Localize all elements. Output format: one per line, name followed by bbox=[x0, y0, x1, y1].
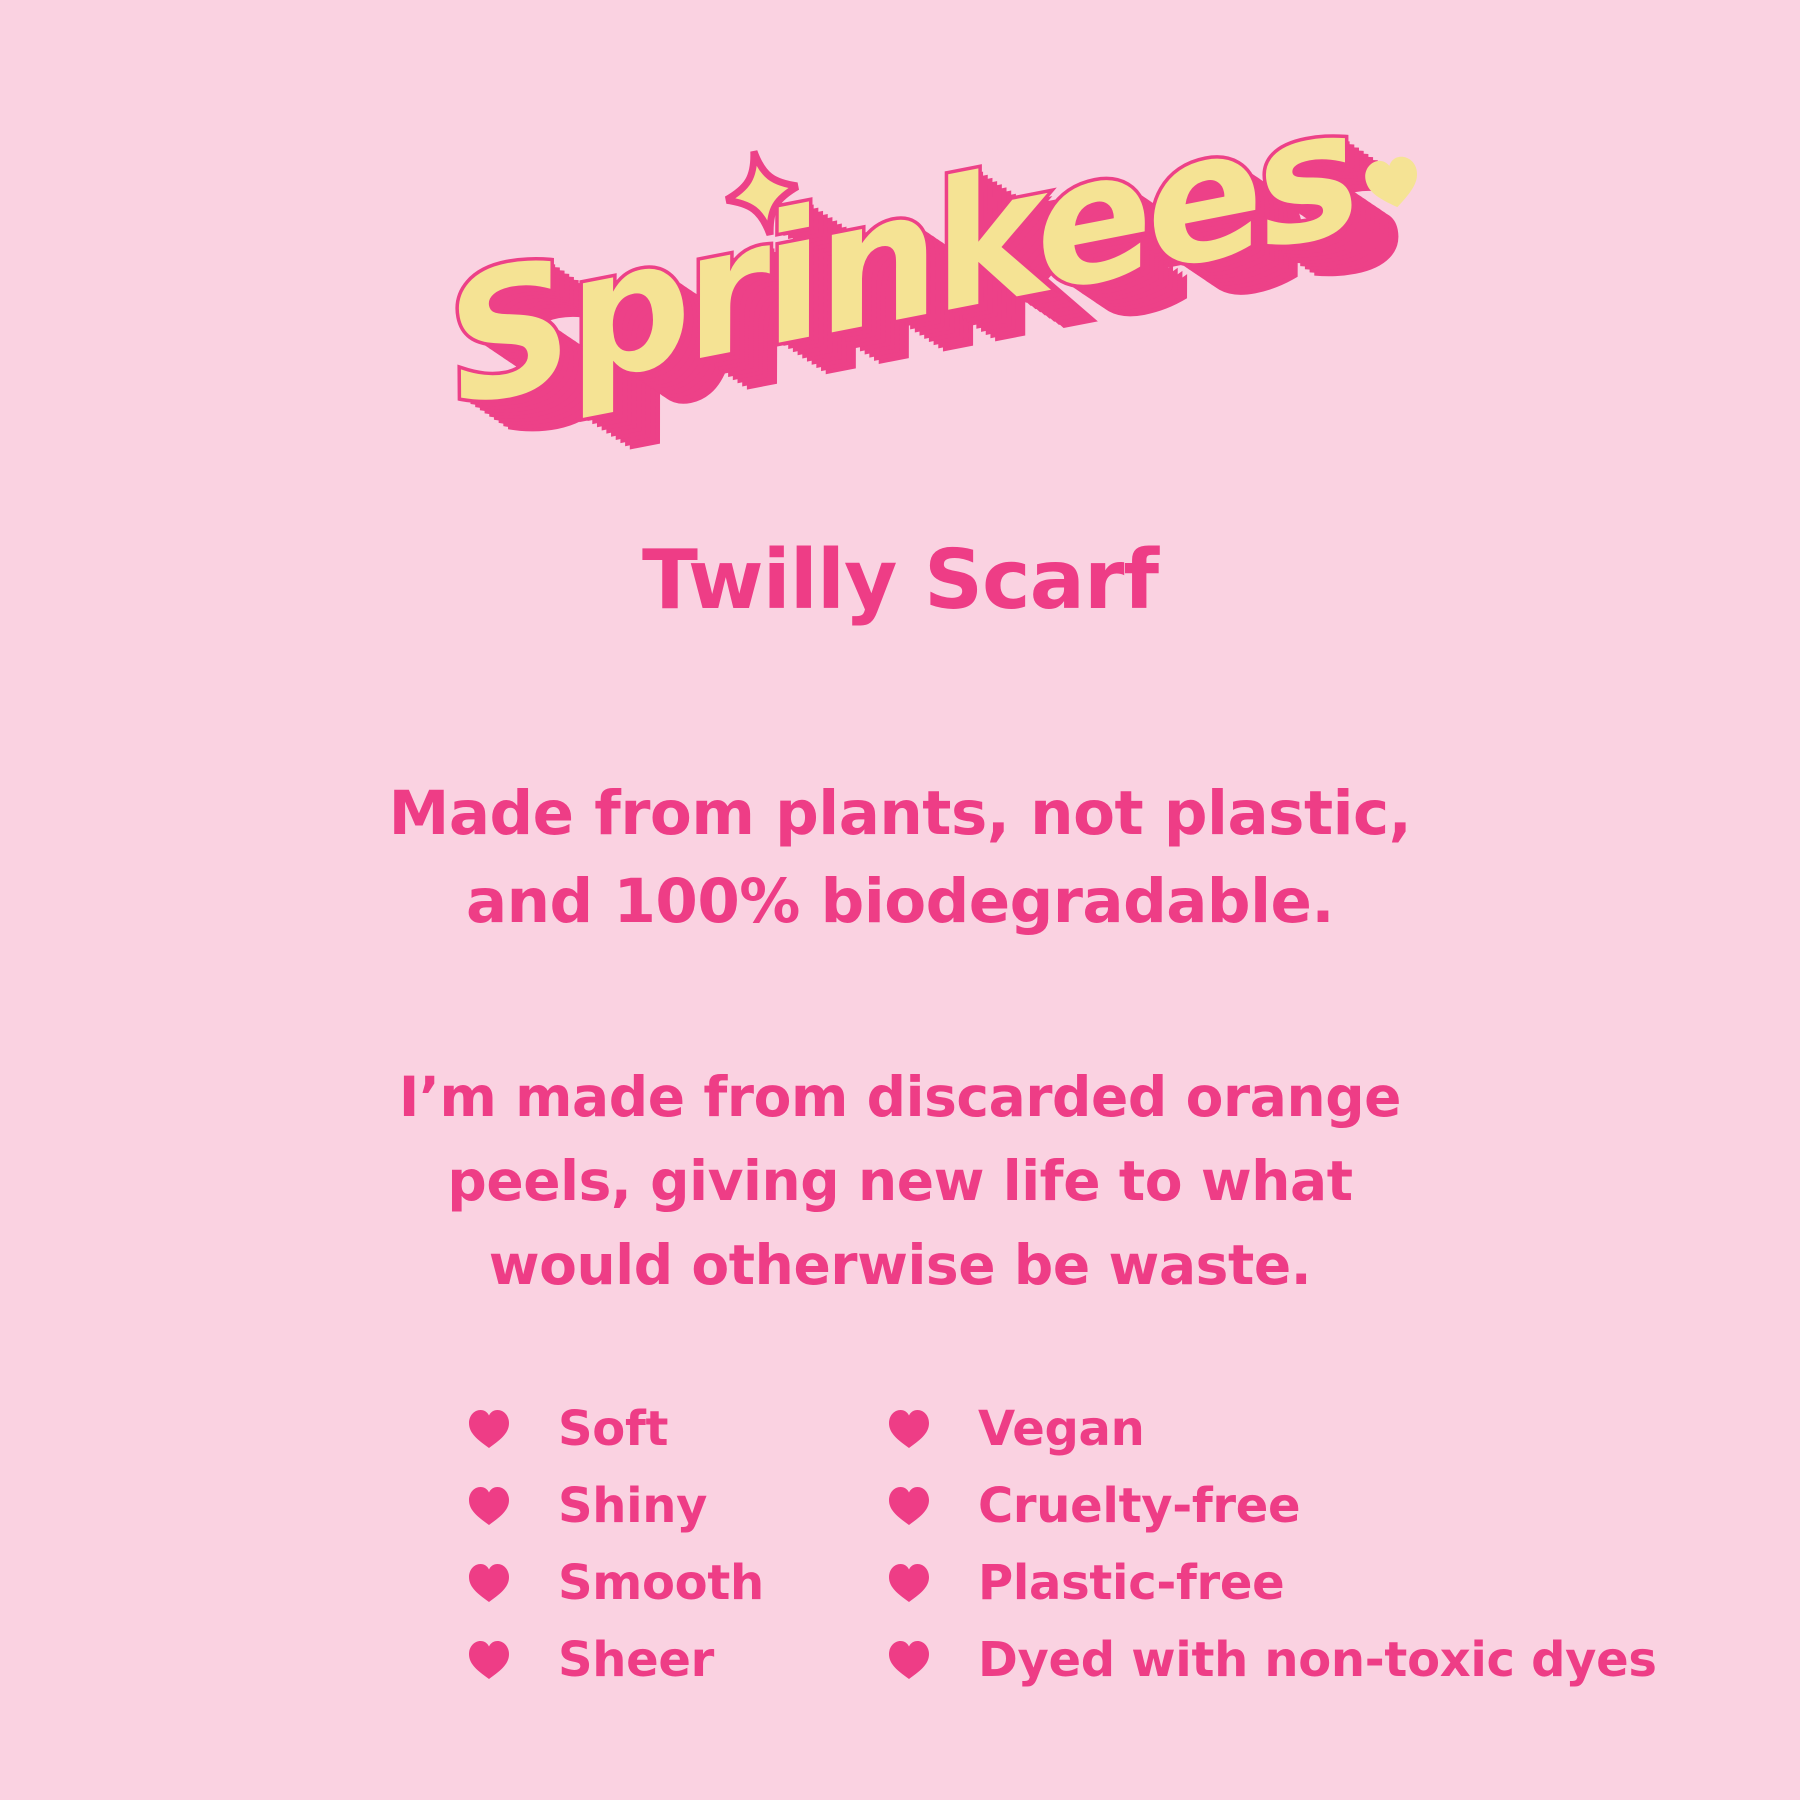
description-block: I’m made from discarded orange peels, gi… bbox=[0, 1055, 1800, 1307]
headline-line: Made from plants, not plastic, bbox=[0, 770, 1800, 858]
feature-label: Smooth bbox=[558, 1559, 764, 1607]
brand-logo: Sprinkees bbox=[0, 108, 1800, 408]
description-line: would otherwise be waste. bbox=[0, 1223, 1800, 1307]
feature-column-right: Vegan Cruelty-free Plastic-free bbox=[888, 1390, 1668, 1698]
headline-line: and 100% biodegradable. bbox=[0, 858, 1800, 946]
feature-label: Plastic-free bbox=[978, 1559, 1284, 1607]
description-line: peels, giving new life to what bbox=[0, 1139, 1800, 1223]
product-info-card: Sprinkees Twilly Scarf Made from plants,… bbox=[0, 0, 1800, 1800]
heart-icon bbox=[468, 1486, 510, 1526]
heart-icon bbox=[888, 1563, 930, 1603]
feature-label: Sheer bbox=[558, 1636, 714, 1684]
list-item: Vegan bbox=[888, 1390, 1668, 1467]
list-item: Smooth bbox=[468, 1544, 888, 1621]
brand-logo-wordmark: Sprinkees bbox=[432, 84, 1368, 431]
heart-icon bbox=[888, 1409, 930, 1449]
list-item: Cruelty-free bbox=[888, 1467, 1668, 1544]
heart-icon bbox=[888, 1640, 930, 1680]
heart-icon bbox=[468, 1409, 510, 1449]
heart-icon bbox=[888, 1486, 930, 1526]
feature-label: Soft bbox=[558, 1405, 668, 1453]
list-item: Shiny bbox=[468, 1467, 888, 1544]
feature-label: Cruelty-free bbox=[978, 1482, 1300, 1530]
sparkle-star-icon bbox=[718, 143, 807, 242]
feature-label: Dyed with non-toxic dyes bbox=[978, 1636, 1657, 1684]
list-item: Plastic-free bbox=[888, 1544, 1668, 1621]
heart-icon bbox=[1360, 151, 1425, 213]
heart-icon bbox=[468, 1640, 510, 1680]
feature-label: Vegan bbox=[978, 1405, 1145, 1453]
list-item: Dyed with non-toxic dyes bbox=[888, 1621, 1668, 1698]
logo-rotated-group: Sprinkees bbox=[432, 84, 1368, 431]
list-item: Sheer bbox=[468, 1621, 888, 1698]
feature-list: Soft Shiny Smooth bbox=[468, 1390, 1668, 1698]
page-title: Twilly Scarf bbox=[0, 540, 1800, 622]
heart-icon bbox=[468, 1563, 510, 1603]
list-item: Soft bbox=[468, 1390, 888, 1467]
headline-block: Made from plants, not plastic, and 100% … bbox=[0, 770, 1800, 947]
feature-column-left: Soft Shiny Smooth bbox=[468, 1390, 888, 1698]
description-line: I’m made from discarded orange bbox=[0, 1055, 1800, 1139]
feature-label: Shiny bbox=[558, 1482, 707, 1530]
